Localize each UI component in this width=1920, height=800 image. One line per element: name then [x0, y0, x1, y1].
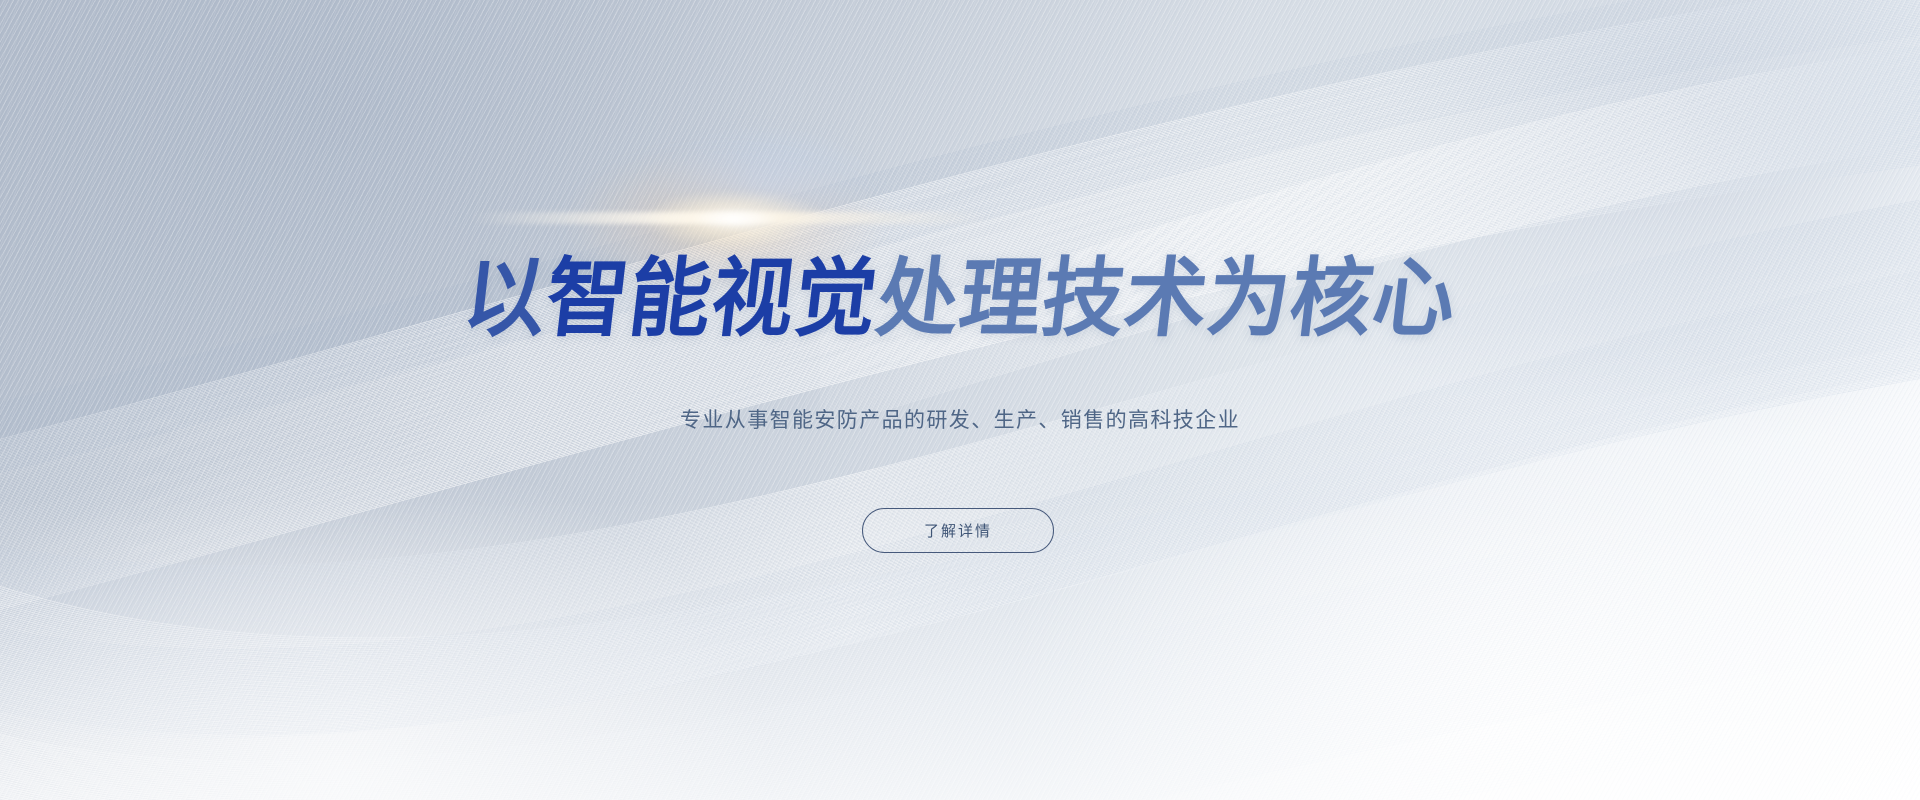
hero-subtitle: 专业从事智能安防产品的研发、生产、销售的高科技企业 — [0, 404, 1920, 434]
headline-segment-2: 智能视觉 — [542, 256, 883, 342]
learn-more-button-label: 了解详情 — [924, 520, 992, 541]
headline-segment-1: 以 — [459, 256, 552, 342]
hero-content: 以智能视觉处理技术为核心 专业从事智能安防产品的研发、生产、销售的高科技企业 了… — [0, 0, 1920, 800]
page-title: 以智能视觉处理技术为核心 — [43, 256, 1877, 342]
learn-more-button[interactable]: 了解详情 — [862, 508, 1054, 553]
hero-banner: 以智能视觉处理技术为核心 专业从事智能安防产品的研发、生产、销售的高科技企业 了… — [0, 0, 1920, 800]
headline-segment-3: 处理技术为核心 — [872, 256, 1461, 342]
